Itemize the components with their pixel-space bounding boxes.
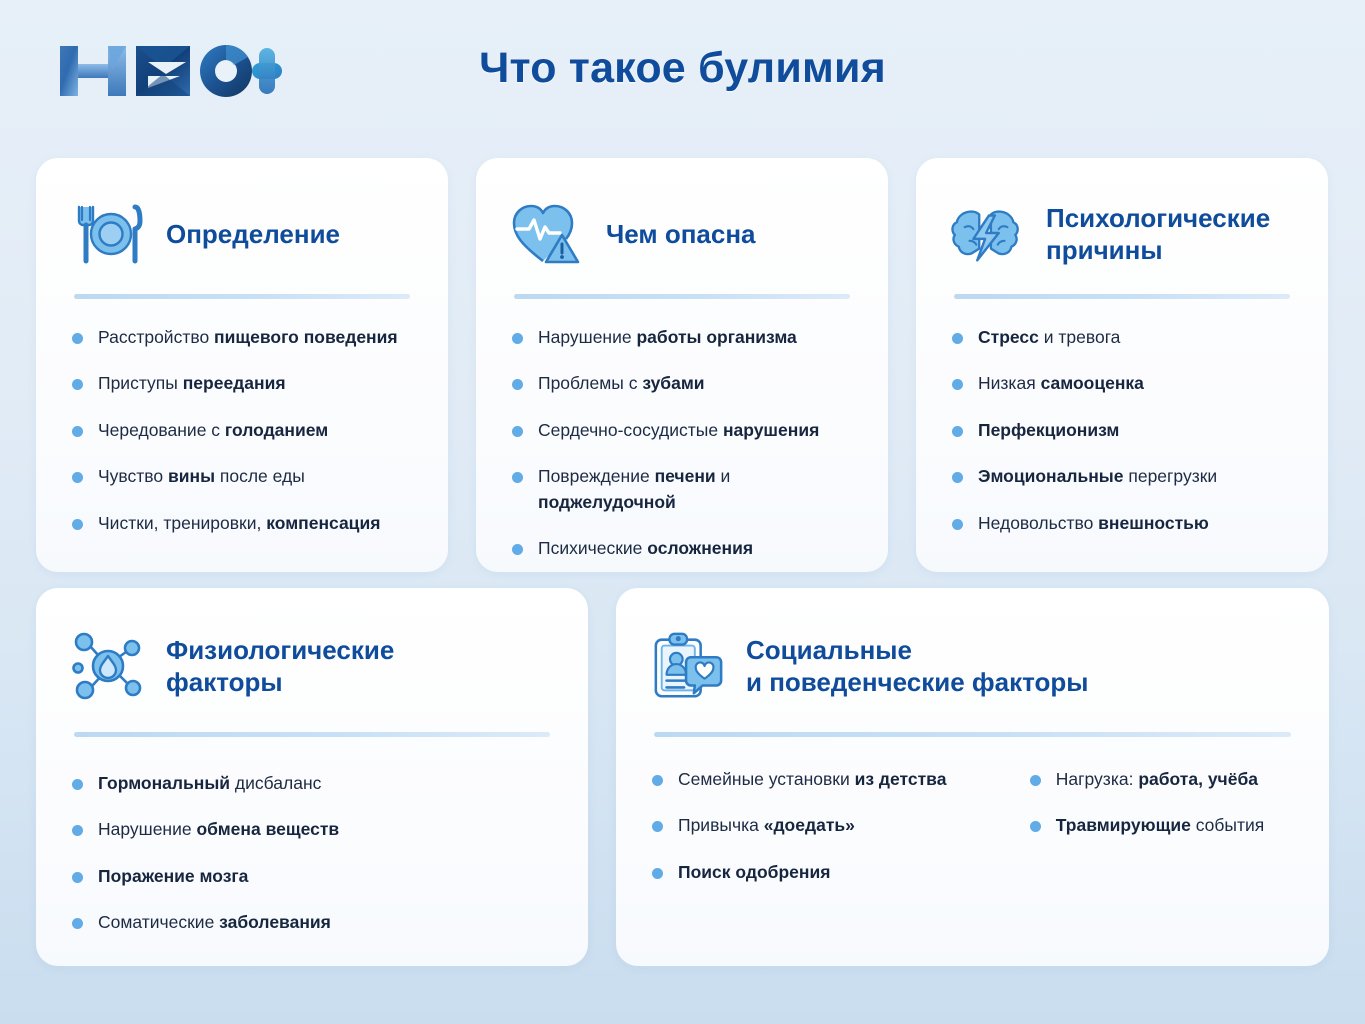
card-title: Физиологические факторы <box>166 634 394 699</box>
card-title: Определение <box>166 218 340 251</box>
card-title-line1: Физиологические <box>166 634 394 667</box>
card-title-line2: факторы <box>166 666 394 699</box>
card-header: Физиологические факторы <box>70 618 554 714</box>
bullet-list-right: Нагрузка: работа, учёба Травмирующие соб… <box>1028 767 1295 885</box>
list-item: Повреждение печени и поджелудочной <box>510 464 854 515</box>
list-item: Нагрузка: работа, учёба <box>1028 767 1295 792</box>
list-item: Приступы переедания <box>70 371 414 396</box>
list-item: Проблемы с зубами <box>510 371 854 396</box>
list-item: Нарушение обмена веществ <box>70 817 554 842</box>
list-item: Поражение мозга <box>70 864 554 889</box>
list-item: Перфекционизм <box>950 418 1294 443</box>
list-item: Низкая самооценка <box>950 371 1294 396</box>
card-dangers: Чем опасна Нарушение работы организма Пр… <box>476 158 888 572</box>
card-divider <box>954 294 1290 299</box>
clipboard-person-heart-icon <box>650 628 726 704</box>
card-physiological-factors: Физиологические факторы Гормональный дис… <box>36 588 588 966</box>
list-item: Привычка «доедать» <box>650 813 982 838</box>
card-title-line2: причины <box>1046 234 1270 267</box>
brain-lightning-icon <box>950 196 1026 272</box>
list-item: Семейные установки из детства <box>650 767 982 792</box>
molecule-hormone-icon <box>70 628 146 704</box>
card-social-behavioral-factors: Социальные и поведенческие факторы Семей… <box>616 588 1329 966</box>
list-item: Психические осложнения <box>510 536 854 561</box>
list-item: Чередование с голоданием <box>70 418 414 443</box>
page-header: Что такое булимия <box>0 0 1365 140</box>
card-title-line2: и поведенческие факторы <box>746 666 1089 699</box>
list-item: Эмоциональные перегрузки <box>950 464 1294 489</box>
list-item: Расстройство пищевого поведения <box>70 325 414 350</box>
card-definition: Определение Расстройство пищевого поведе… <box>36 158 448 572</box>
card-divider <box>654 732 1291 737</box>
list-item: Чистки, тренировки, компенсация <box>70 511 414 536</box>
cards-row-bottom: Физиологические факторы Гормональный дис… <box>36 588 1329 966</box>
card-divider <box>74 732 550 737</box>
heart-pulse-warning-icon <box>510 196 586 272</box>
bullet-list: Гормональный дисбаланс Нарушение обмена … <box>70 771 554 936</box>
list-item: Стресс и тревога <box>950 325 1294 350</box>
card-divider <box>514 294 850 299</box>
bullet-list: Нарушение работы организма Проблемы с зу… <box>510 325 854 561</box>
card-title: Психологические причины <box>1046 202 1270 267</box>
page-title: Что такое булимия <box>0 44 1365 93</box>
bullet-list: Расстройство пищевого поведения Приступы… <box>70 325 414 536</box>
card-divider <box>74 294 410 299</box>
card-header: Социальные и поведенческие факторы <box>650 618 1295 714</box>
cards-row-top: Определение Расстройство пищевого поведе… <box>36 158 1329 572</box>
card-title: Социальные и поведенческие факторы <box>746 634 1089 699</box>
list-item: Травмирующие события <box>1028 813 1295 838</box>
list-item: Поиск одобрения <box>650 860 982 885</box>
list-item: Сердечно-сосудистые нарушения <box>510 418 854 443</box>
bullet-list-left: Семейные установки из детства Привычка «… <box>650 767 982 885</box>
bullet-list: Стресс и тревога Низкая самооценка Перфе… <box>950 325 1294 536</box>
list-item: Гормональный дисбаланс <box>70 771 554 796</box>
card-title-line1: Психологические <box>1046 202 1270 235</box>
bullets-two-columns: Семейные установки из детства Привычка «… <box>650 767 1295 885</box>
card-header: Определение <box>70 188 414 280</box>
list-item: Чувство вины после еды <box>70 464 414 489</box>
list-item: Недовольство внешностью <box>950 511 1294 536</box>
list-item: Соматические заболевания <box>70 910 554 935</box>
card-title-line1: Социальные <box>746 634 1089 667</box>
plate-fork-knife-icon <box>70 196 146 272</box>
card-header: Чем опасна <box>510 188 854 280</box>
list-item: Нарушение работы организма <box>510 325 854 350</box>
card-header: Психологические причины <box>950 188 1294 280</box>
infographic-page: Что такое булимия <box>0 0 1365 1024</box>
card-title: Чем опасна <box>606 218 756 251</box>
card-psychological-causes: Психологические причины Стресс и тревога… <box>916 158 1328 572</box>
